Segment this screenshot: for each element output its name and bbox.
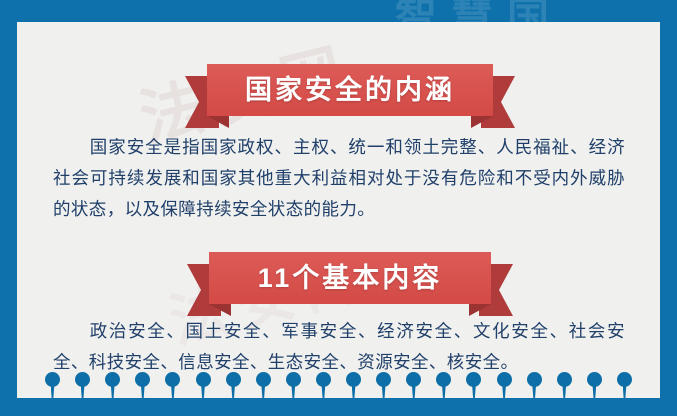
pin-stem-icon	[261, 383, 265, 398]
section-ribbon-2: 11个基本内容	[187, 252, 513, 316]
pin-decoration	[527, 372, 542, 398]
frame-border-top	[0, 0, 677, 22]
pin-stem-icon	[141, 383, 145, 398]
ribbon-band: 11个基本内容	[209, 252, 491, 304]
pin-decoration	[196, 372, 211, 398]
pin-decoration	[617, 372, 632, 398]
pin-decoration	[135, 372, 150, 398]
pin-decoration	[256, 372, 271, 398]
pin-stem-icon	[231, 383, 235, 398]
pin-stem-icon	[81, 383, 85, 398]
section-body-2-text: 政治安全、国土安全、军事安全、经济安全、文化安全、社会安全、科技安全、信息安全、…	[53, 321, 625, 372]
pin-stem-icon	[171, 383, 175, 398]
pin-stem-icon	[562, 383, 566, 398]
content-panel: 法安网 法安网 国家安全的内涵 国家安全是指国家政权、主权、统一和领土完整、人民…	[17, 22, 660, 398]
section-body-1: 国家安全是指国家政权、主权、统一和领土完整、人民福祉、经济社会可持续发展和国家其…	[53, 132, 625, 225]
pin-decoration	[165, 372, 180, 398]
section-title-2: 11个基本内容	[258, 265, 443, 292]
pin-decoration	[376, 372, 391, 398]
pin-decoration	[406, 372, 421, 398]
pin-decoration	[286, 372, 301, 398]
pin-stem-icon	[352, 383, 356, 398]
pin-stem-icon	[111, 383, 115, 398]
pin-decoration	[436, 372, 451, 398]
section-ribbon-1: 国家安全的内涵	[185, 64, 515, 128]
pin-stem-icon	[291, 383, 295, 398]
pin-decoration	[75, 372, 90, 398]
pin-decoration	[346, 372, 361, 398]
pin-stem-icon	[472, 383, 476, 398]
pin-stem-icon	[502, 383, 506, 398]
section-body-1-text: 国家安全是指国家政权、主权、统一和领土完整、人民福祉、经济社会可持续发展和国家其…	[53, 137, 625, 219]
bottom-pin-decoration	[17, 372, 660, 398]
pin-stem-icon	[51, 383, 55, 398]
pin-stem-icon	[382, 383, 386, 398]
pin-decoration	[587, 372, 602, 398]
section-body-2: 政治安全、国土安全、军事安全、经济安全、文化安全、社会安全、科技安全、信息安全、…	[53, 316, 625, 378]
frame-border-right	[660, 0, 677, 416]
pin-decoration	[557, 372, 572, 398]
pin-decoration	[497, 372, 512, 398]
ribbon-band: 国家安全的内涵	[207, 64, 493, 116]
pin-stem-icon	[532, 383, 536, 398]
pin-stem-icon	[201, 383, 205, 398]
pin-decoration	[226, 372, 241, 398]
pin-decoration	[466, 372, 481, 398]
frame-border-bottom	[0, 398, 677, 416]
pin-decoration	[105, 372, 120, 398]
section-title-1: 国家安全的内涵	[245, 77, 455, 104]
pin-stem-icon	[321, 383, 325, 398]
pin-stem-icon	[412, 383, 416, 398]
pin-decoration	[316, 372, 331, 398]
pin-decoration	[45, 372, 60, 398]
poster-canvas: 智慧国 法安网 法安网 国家安全的内涵 国家安全是指国家政权、主权、统一和领土完…	[0, 0, 677, 416]
frame-border-left	[0, 0, 17, 416]
pin-stem-icon	[623, 383, 627, 398]
pin-stem-icon	[442, 383, 446, 398]
pin-stem-icon	[592, 383, 596, 398]
